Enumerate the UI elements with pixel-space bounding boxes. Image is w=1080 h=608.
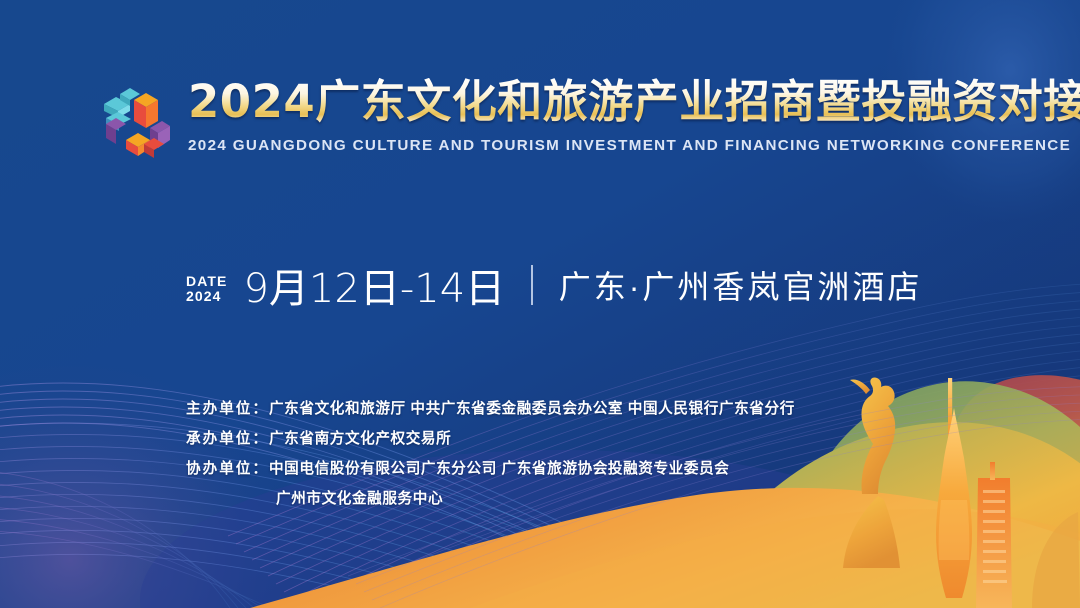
organiser-row: 主办单位：广东省文化和旅游厅 中共广东省委金融委员会办公室 中国人民银行广东省分… xyxy=(186,394,795,424)
conference-poster: 2024广东文化和旅游产业招商暨投融资对接会 2024 GUANGDONG CU… xyxy=(0,0,1080,608)
date-venue-row: DATE 2024 9月12日-14日 广东·广州香岚官洲酒店 xyxy=(186,256,922,314)
organiser-value: 广州市文化金融服务中心 xyxy=(276,491,443,507)
organiser-value: 广东省文化和旅游厅 中共广东省委金融委员会办公室 中国人民银行广东省分行 xyxy=(269,401,795,417)
organiser-value: 广东省南方文化产权交易所 xyxy=(269,431,451,447)
page-title: 2024广东文化和旅游产业招商暨投融资对接会 xyxy=(188,78,1080,126)
organiser-value: 中国电信股份有限公司广东分公司 广东省旅游协会投融资专业委员会 xyxy=(269,461,729,477)
organiser-row: 承办单位：广东省南方文化产权交易所 xyxy=(186,424,795,454)
poster-header: 2024广东文化和旅游产业招商暨投融资对接会 2024 GUANGDONG CU… xyxy=(100,78,1080,166)
date-venue-divider xyxy=(531,265,533,305)
date-kicker-line1: DATE xyxy=(186,274,227,288)
venue-value: 广东·广州香岚官洲酒店 xyxy=(559,262,923,308)
date-kicker: DATE 2024 xyxy=(186,274,227,303)
date-kicker-line2: 2024 xyxy=(186,289,227,303)
date-value: 9月12日-14日 xyxy=(243,256,505,314)
organiser-row: 广州市文化金融服务中心 xyxy=(186,484,795,514)
page-subtitle: 2024 GUANGDONG CULTURE AND TOURISM INVES… xyxy=(188,137,1080,154)
organisers-block: 主办单位：广东省文化和旅游厅 中共广东省委金融委员会办公室 中国人民银行广东省分… xyxy=(186,394,795,514)
isometric-logo-icon xyxy=(100,82,174,166)
organiser-label: 协办单位： xyxy=(186,461,269,477)
organiser-label: 承办单位： xyxy=(186,431,269,447)
organiser-row: 协办单位：中国电信股份有限公司广东分公司 广东省旅游协会投融资专业委员会 xyxy=(186,454,795,484)
organiser-label: 主办单位： xyxy=(186,401,269,417)
